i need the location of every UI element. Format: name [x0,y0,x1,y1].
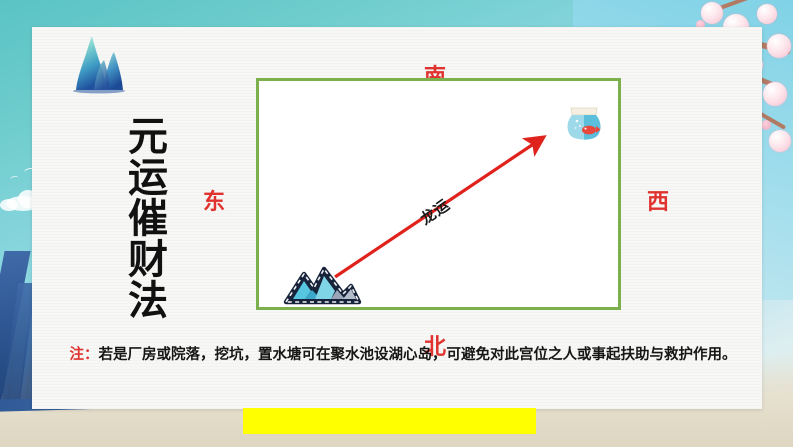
mountain-sticker-icon [281,261,363,307]
fishbowl-with-red-fish-icon [562,103,606,147]
compass-label-west: 西 [647,192,669,214]
blossom-icon [757,4,777,24]
bird-icon [10,175,20,182]
feng-shui-plot-diagram: 龙运 [256,78,621,310]
note-label: 注： [70,347,99,363]
cloud-icon [0,199,18,211]
highlight-bar [243,408,536,434]
blossom-icon [701,2,723,24]
note-line: 注：若是厂房或院落，挖坑，置水塘可在聚水池设湖心岛，可避免对此宫位之人或事起扶助… [58,343,748,364]
compass-label-east: 东 [203,192,225,214]
blossom-bud-icon [761,120,771,130]
blossom-icon [763,82,787,106]
note-text: 若是厂房或院落，挖坑，置水塘可在聚水池设湖心岛，可避免对此宫位之人或事起扶助与救… [99,347,737,363]
slide-canvas: 元运催财法 南 北 东 西 龙运 [0,0,793,447]
blossom-icon [769,130,791,152]
blossom-icon [767,34,791,58]
page-title: 元运催财法 [102,115,164,320]
slide-card: 元运催财法 南 北 东 西 龙运 [32,27,762,409]
ink-mountain-logo-icon [70,30,132,96]
